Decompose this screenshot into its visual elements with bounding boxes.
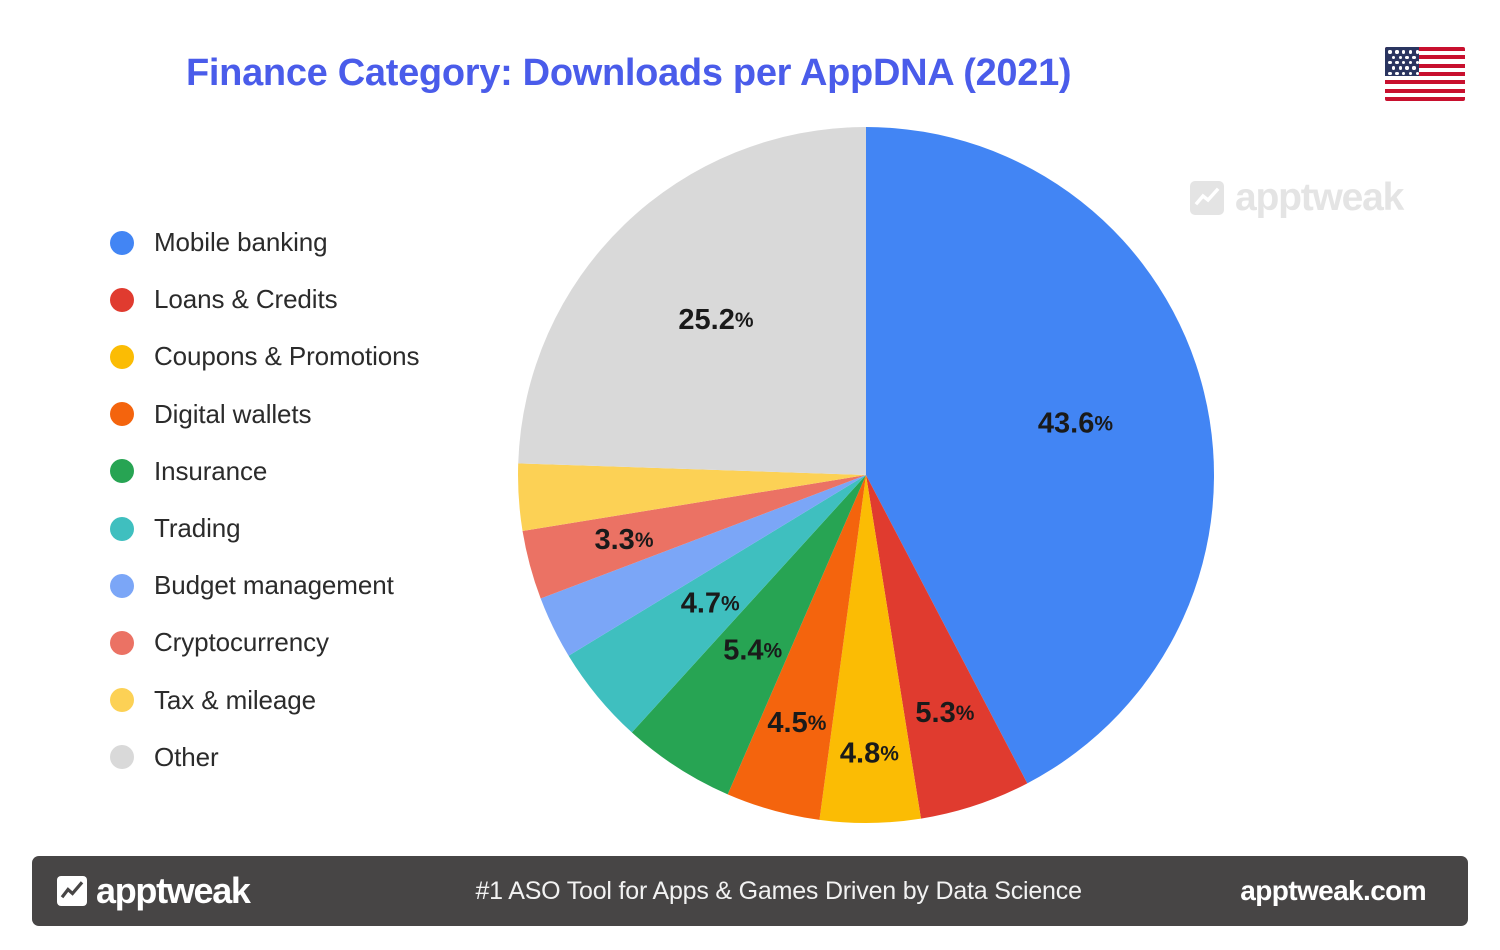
legend-item-label: Other bbox=[154, 742, 219, 773]
pie-chart-svg: 43.6%5.3%4.8%4.5%5.4%4.7%3.3%25.2% bbox=[516, 125, 1216, 825]
apptweak-watermark: apptweak bbox=[1190, 176, 1403, 220]
legend-swatch-icon bbox=[110, 745, 134, 769]
legend-item[interactable]: Cryptocurrency bbox=[110, 614, 510, 671]
legend-swatch-icon bbox=[110, 345, 134, 369]
legend-item-label: Trading bbox=[154, 513, 241, 544]
legend-item[interactable]: Trading bbox=[110, 500, 510, 557]
legend-item[interactable]: Budget management bbox=[110, 557, 510, 614]
legend-swatch-icon bbox=[110, 517, 134, 541]
apptweak-chart-mark-icon bbox=[57, 876, 87, 906]
chart-legend: Mobile bankingLoans & CreditsCoupons & P… bbox=[110, 214, 510, 786]
legend-item-label: Insurance bbox=[154, 456, 267, 487]
legend-swatch-icon bbox=[110, 231, 134, 255]
legend-item[interactable]: Tax & mileage bbox=[110, 672, 510, 729]
page-title: Finance Category: Downloads per AppDNA (… bbox=[186, 52, 1306, 96]
pie-slice-label: 5.3% bbox=[915, 697, 974, 729]
legend-item-label: Tax & mileage bbox=[154, 685, 316, 716]
pie-slice-label: 4.7% bbox=[681, 587, 740, 619]
legend-item[interactable]: Coupons & Promotions bbox=[110, 328, 510, 385]
legend-item-label: Budget management bbox=[154, 570, 394, 601]
pie-chart: 43.6%5.3%4.8%4.5%5.4%4.7%3.3%25.2% bbox=[516, 125, 1216, 825]
footer-url[interactable]: apptweak.com bbox=[1240, 875, 1426, 907]
legend-swatch-icon bbox=[110, 459, 134, 483]
pie-slice[interactable] bbox=[518, 127, 866, 475]
legend-item[interactable]: Insurance bbox=[110, 443, 510, 500]
pie-slice-label: 43.6% bbox=[1038, 408, 1113, 440]
legend-item-label: Cryptocurrency bbox=[154, 627, 329, 658]
pie-slice-label: 5.4% bbox=[723, 634, 782, 666]
footer-bar: apptweak #1 ASO Tool for Apps & Games Dr… bbox=[32, 856, 1468, 926]
legend-swatch-icon bbox=[110, 631, 134, 655]
legend-swatch-icon bbox=[110, 288, 134, 312]
legend-item-label: Coupons & Promotions bbox=[154, 341, 419, 372]
legend-item[interactable]: Mobile banking bbox=[110, 214, 510, 271]
legend-item[interactable]: Loans & Credits bbox=[110, 271, 510, 328]
pie-slice-label: 3.3% bbox=[594, 524, 653, 556]
legend-item-label: Digital wallets bbox=[154, 399, 311, 430]
legend-swatch-icon bbox=[110, 574, 134, 598]
legend-item-label: Mobile banking bbox=[154, 227, 328, 258]
us-flag-icon bbox=[1385, 47, 1465, 101]
legend-item[interactable]: Digital wallets bbox=[110, 386, 510, 443]
pie-slice-label: 4.8% bbox=[840, 737, 899, 769]
legend-swatch-icon bbox=[110, 402, 134, 426]
legend-item[interactable]: Other bbox=[110, 729, 510, 786]
footer-tagline: #1 ASO Tool for Apps & Games Driven by D… bbox=[317, 877, 1240, 906]
pie-slice-label: 4.5% bbox=[767, 707, 826, 739]
chart-card: Finance Category: Downloads per AppDNA (… bbox=[0, 0, 1500, 950]
pie-slice-label: 25.2% bbox=[678, 304, 753, 336]
footer-logo-label: apptweak bbox=[96, 870, 250, 912]
legend-swatch-icon bbox=[110, 688, 134, 712]
watermark-label: apptweak bbox=[1235, 176, 1403, 220]
legend-item-label: Loans & Credits bbox=[154, 284, 337, 315]
